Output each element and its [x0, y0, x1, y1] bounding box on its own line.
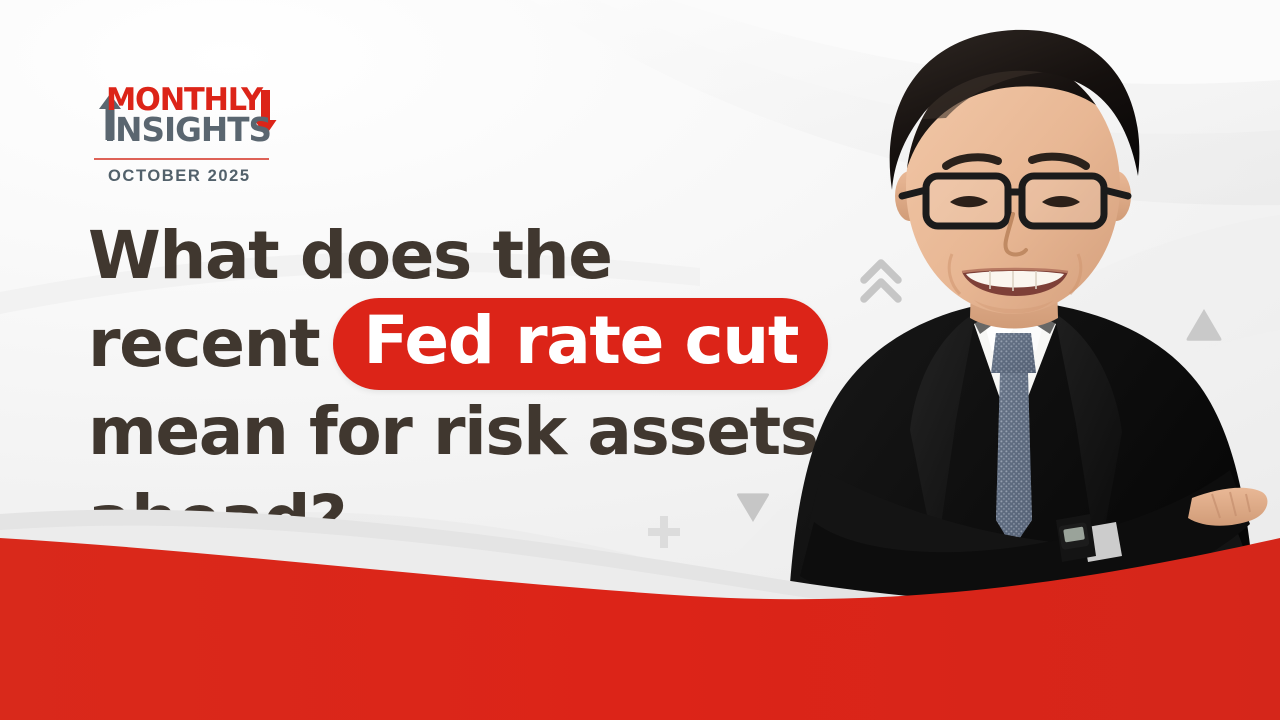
issue-date-label: OCTOBER 2025 [108, 167, 320, 186]
monthly-insights-logotype: MONTHLY INSIGHTS [90, 78, 282, 156]
brand-logo: MONTHLY INSIGHTS OCTOBER 2025 [90, 78, 320, 186]
logo-divider-rule [94, 158, 269, 160]
headline-text-2: recent [88, 300, 319, 388]
svg-text:INSIGHTS: INSIGHTS [104, 110, 271, 149]
banner-canvas: MONTHLY INSIGHTS OCTOBER 2025 What does … [0, 0, 1280, 720]
headline-line-2: recent Fed rate cut [88, 300, 848, 388]
bottom-wave-band [0, 490, 1280, 720]
headline-text-3: mean for risk assets [88, 388, 818, 476]
highlight-pill: Fed rate cut [333, 298, 828, 390]
headline-text-1: What does the [88, 212, 612, 300]
headline-line-1: What does the [88, 212, 848, 300]
headline-line-3: mean for risk assets [88, 388, 848, 476]
